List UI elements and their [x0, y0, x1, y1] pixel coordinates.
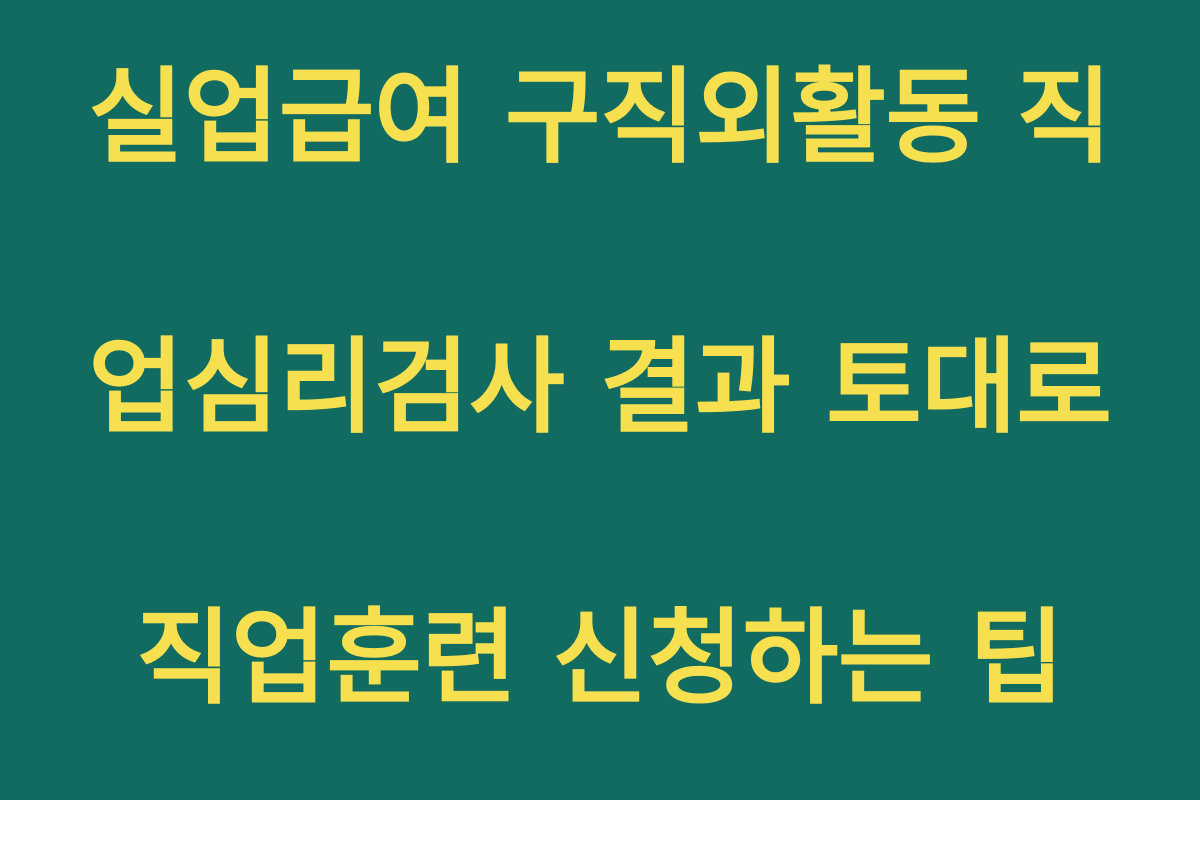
headline-line-2: 업심리검사 결과 토대로: [55, 320, 1145, 455]
title-card: 실업급여 구직외활동 직 업심리검사 결과 토대로 직업훈련 신청하는 팁: [0, 0, 1200, 800]
headline-line-3: 직업훈련 신청하는 팁: [55, 591, 1145, 726]
page-title: 실업급여 구직외활동 직 업심리검사 결과 토대로 직업훈련 신청하는 팁: [55, 0, 1145, 861]
headline-line-1: 실업급여 구직외활동 직: [55, 50, 1145, 185]
